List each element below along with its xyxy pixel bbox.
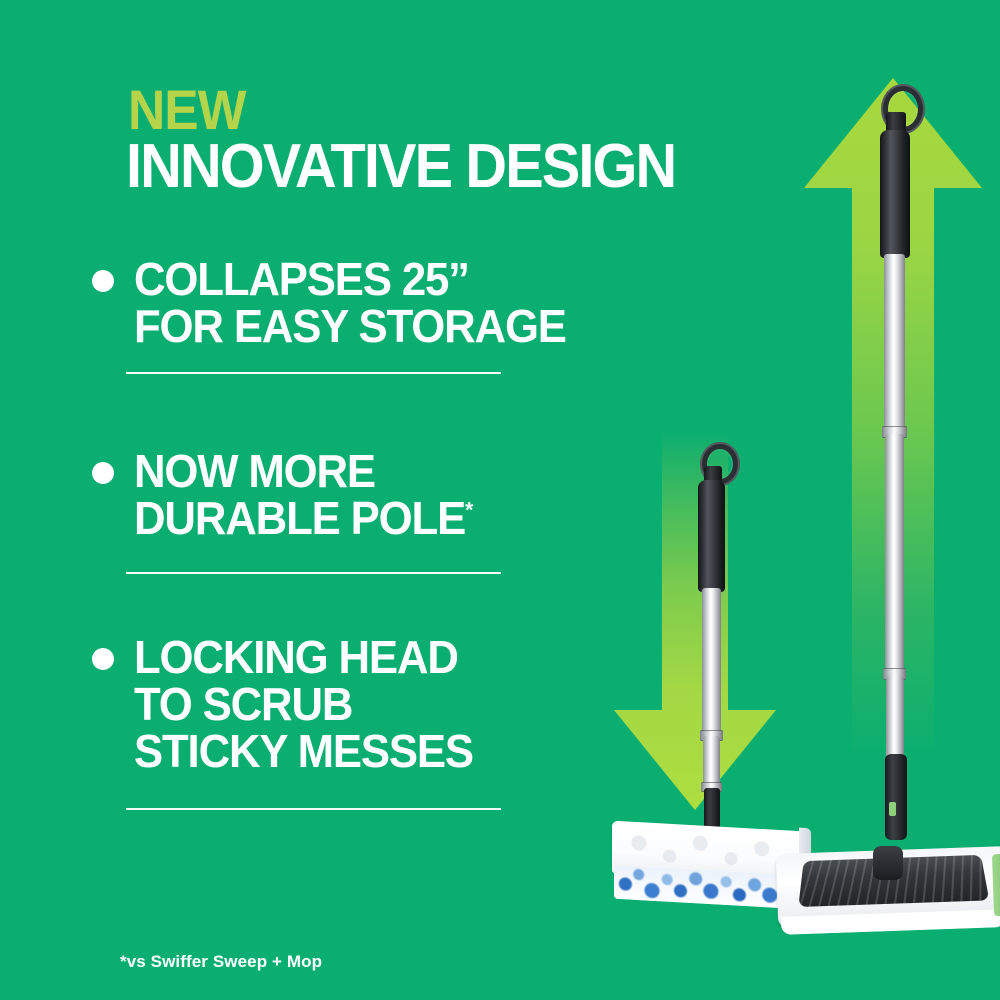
bullet-line: TO SCRUB bbox=[134, 681, 473, 728]
bullet-dot-icon bbox=[92, 270, 114, 292]
bullet-line: STICKY MESSES bbox=[134, 728, 473, 775]
feature-bullet-durable-pole: NOW MORE DURABLE POLE* bbox=[92, 448, 490, 542]
bullet-line-text: DURABLE POLE bbox=[134, 492, 465, 544]
head-swivel-joint bbox=[873, 846, 903, 880]
extended-mop-head bbox=[777, 828, 1000, 933]
bullet-line: DURABLE POLE* bbox=[134, 495, 472, 542]
divider-rule bbox=[126, 372, 501, 374]
bullet-line: NOW MORE bbox=[134, 448, 472, 495]
feature-bullet-locking-head: LOCKING HEAD TO SCRUB STICKY MESSES bbox=[92, 634, 491, 775]
bullet-dot-icon bbox=[92, 462, 114, 484]
pole-upper-section bbox=[702, 588, 721, 738]
handle-grip bbox=[698, 480, 725, 592]
head-green-accent bbox=[992, 854, 1000, 917]
promo-canvas: NEW INNOVATIVE DESIGN COLLAPSES 25” FOR … bbox=[0, 0, 1000, 1000]
bullet-line: LOCKING HEAD bbox=[134, 634, 473, 681]
pole-middle-section bbox=[885, 434, 904, 672]
pole-upper-section bbox=[884, 254, 905, 430]
connector-accent bbox=[889, 802, 896, 816]
handle-grip bbox=[880, 130, 910, 258]
eyebrow-new: NEW bbox=[128, 82, 245, 138]
divider-rule bbox=[126, 572, 501, 574]
copy-column: NEW INNOVATIVE DESIGN COLLAPSES 25” FOR … bbox=[0, 0, 600, 1000]
pole-lower-section bbox=[703, 736, 720, 786]
bullet-line: COLLAPSES 25” bbox=[134, 256, 566, 303]
divider-rule bbox=[126, 808, 501, 810]
product-imagery bbox=[540, 0, 1000, 1000]
feature-bullet-collapses: COLLAPSES 25” FOR EASY STORAGE bbox=[92, 256, 589, 350]
extended-mop bbox=[785, 60, 1000, 930]
footnote-text: *vs Swiffer Sweep + Mop bbox=[120, 952, 322, 972]
bullet-dot-icon bbox=[92, 648, 114, 670]
bullet-line: FOR EASY STORAGE bbox=[134, 303, 566, 350]
pole-lower-section bbox=[886, 676, 904, 762]
footnote-marker: * bbox=[465, 498, 472, 523]
